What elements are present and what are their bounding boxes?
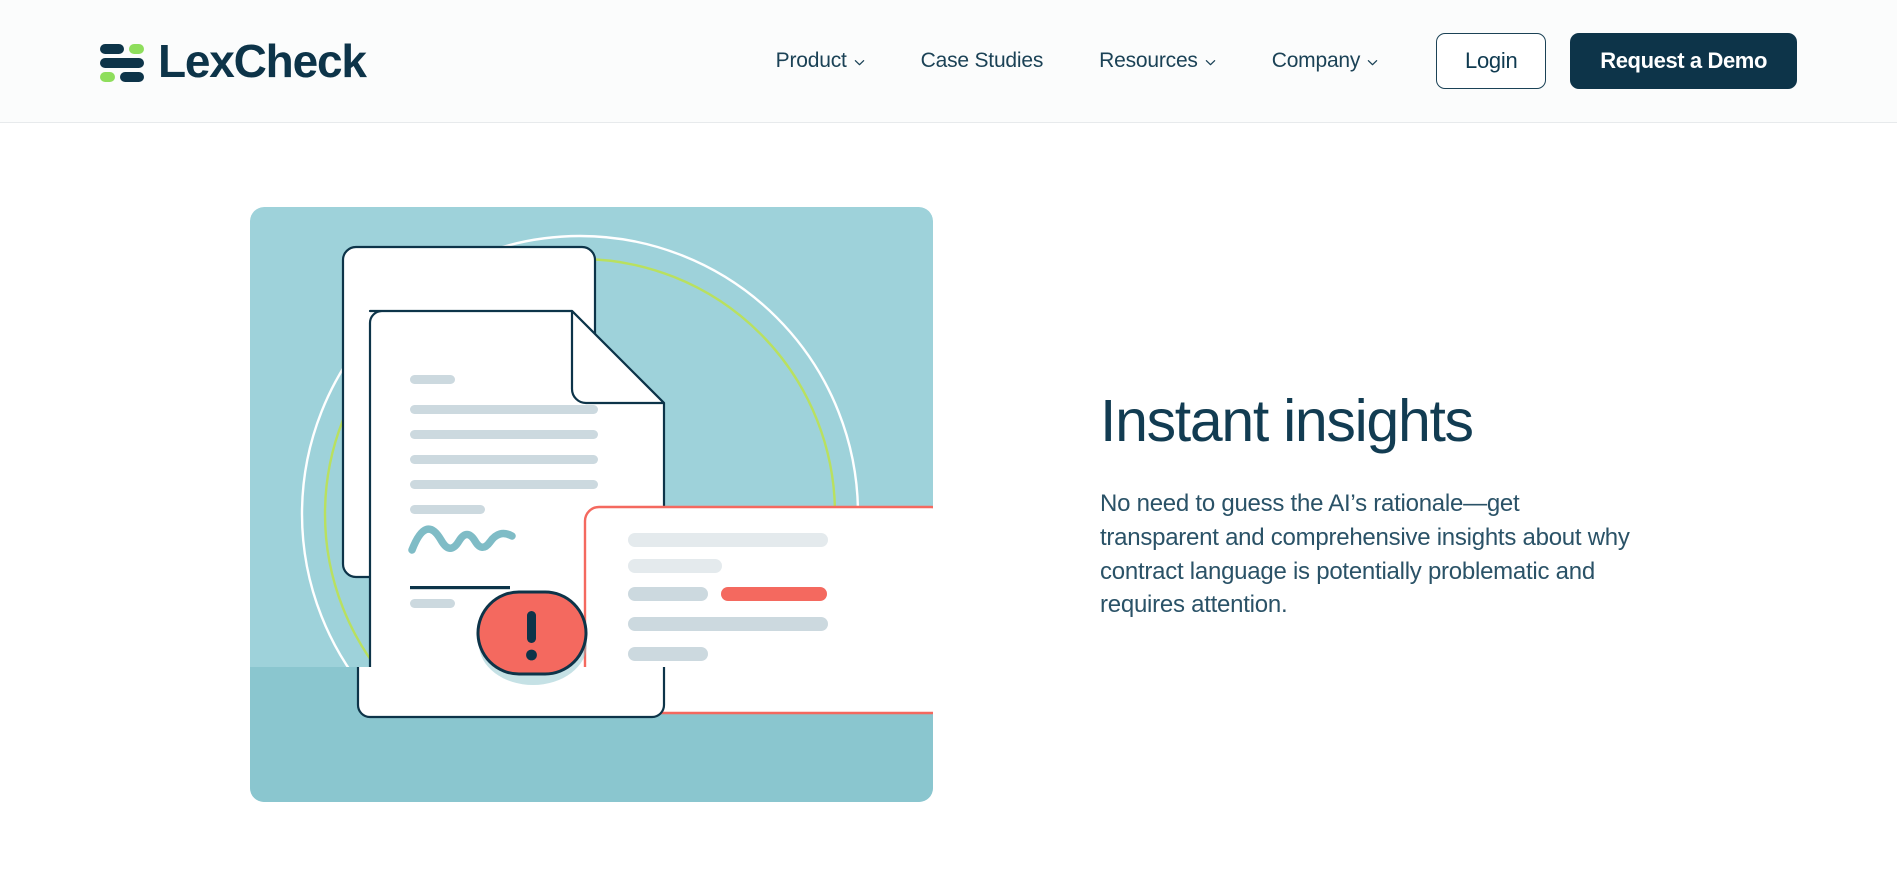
contract-review-illustration <box>250 207 933 802</box>
chevron-down-icon <box>854 57 865 68</box>
exclamation-badge-icon <box>478 592 587 685</box>
site-header: LexCheck Product Case Studies Resources <box>0 0 1897 123</box>
nav-item-company-label: Company <box>1272 49 1360 73</box>
page-title: Instant insights <box>1100 391 1660 453</box>
chevron-down-icon <box>1367 57 1378 68</box>
lexcheck-bars-logo-icon <box>100 39 144 83</box>
chevron-down-icon <box>1205 57 1216 68</box>
nav-item-resources[interactable]: Resources <box>1099 49 1216 73</box>
brand-name: LexCheck <box>158 38 366 84</box>
nav-item-product-label: Product <box>776 49 847 73</box>
nav-item-case-studies-label: Case Studies <box>921 49 1044 73</box>
page-description: No need to guess the AI’s rationale—get … <box>1100 487 1632 622</box>
copy-block: Instant insights No need to guess the AI… <box>1100 391 1660 622</box>
login-button[interactable]: Login <box>1436 33 1546 89</box>
nav-item-case-studies[interactable]: Case Studies <box>921 49 1044 73</box>
request-demo-button[interactable]: Request a Demo <box>1570 33 1797 89</box>
nav-links: Product Case Studies Resources <box>776 49 1379 73</box>
primary-nav: Product Case Studies Resources <box>776 33 1897 89</box>
nav-item-product[interactable]: Product <box>776 49 865 73</box>
signature-line <box>410 586 510 589</box>
nav-item-resources-label: Resources <box>1099 49 1198 73</box>
nav-actions: Login Request a Demo <box>1436 33 1797 89</box>
main-content: Instant insights No need to guess the AI… <box>0 123 1897 873</box>
nav-item-company[interactable]: Company <box>1272 49 1378 73</box>
flagged-clause-highlight <box>721 587 827 601</box>
brand-logo-link[interactable]: LexCheck <box>100 38 366 84</box>
